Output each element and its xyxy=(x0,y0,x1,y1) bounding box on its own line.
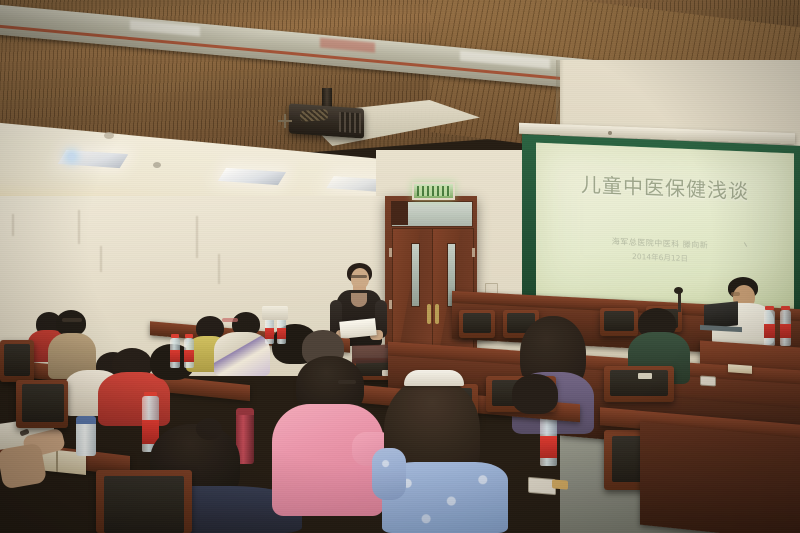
navy-front-bun xyxy=(196,418,222,440)
door-transom-dark-panel xyxy=(391,201,408,225)
door-handle-right[interactable] xyxy=(435,304,439,324)
phone-on-desk-right[interactable] xyxy=(700,375,716,386)
bottle-label-3 xyxy=(540,436,557,458)
red-mid-top xyxy=(98,372,170,426)
desk-front-right-panel xyxy=(640,422,800,533)
tumbler-lid xyxy=(76,416,96,424)
ceiling-fixture-small xyxy=(153,162,161,168)
screen-housing-bolt xyxy=(608,131,612,135)
wall-mark-4 xyxy=(218,254,220,284)
projector-cables xyxy=(300,109,329,122)
bottle-cap-4 xyxy=(171,334,179,338)
ceiling-sprinkler-icon xyxy=(278,114,292,128)
tissue-box xyxy=(262,306,288,320)
man-face-shadow xyxy=(731,292,740,296)
water-bottle-left-far-1[interactable] xyxy=(170,338,180,368)
khaki-woman-glasses-icon xyxy=(62,318,82,322)
lecture-hall-photo: 儿童中医保健浅谈 海军总医院中医科 滕向新 2014年6月12日 xyxy=(0,0,800,533)
strip-reflection-1 xyxy=(130,20,200,36)
tumbler-cup[interactable] xyxy=(76,420,96,456)
chair-pad-left-edge-3 xyxy=(104,476,184,533)
water-bottle-back-2[interactable] xyxy=(277,318,286,344)
ceiling-projector xyxy=(289,103,364,138)
thermos-cap xyxy=(236,408,254,415)
headband xyxy=(404,370,464,386)
door-vision-panel-left xyxy=(411,243,420,307)
water-bottle-right-1[interactable] xyxy=(764,310,775,346)
door-handle-left[interactable] xyxy=(427,304,431,324)
strip-reflection-2 xyxy=(320,38,375,53)
bottle-label-7 xyxy=(277,328,286,339)
keys-on-desk xyxy=(552,479,568,489)
water-bottle-back-1[interactable] xyxy=(265,318,274,344)
forearm-writing xyxy=(0,442,47,489)
presenter-neckline xyxy=(351,293,367,307)
chair-pad-left-edge-2 xyxy=(22,384,64,422)
blue-floral-sleeve xyxy=(372,448,406,500)
patterned-woman-glasses-icon xyxy=(222,318,238,322)
bottle-cap-1 xyxy=(765,306,773,310)
bottle-cap-2 xyxy=(781,306,789,310)
microphone-stalk xyxy=(678,292,681,312)
wall-mark-3 xyxy=(196,216,198,258)
exit-sign-glyph xyxy=(417,186,450,196)
chair-pad-far-1 xyxy=(463,313,491,333)
papers-on-desk-right xyxy=(728,364,752,374)
door-hinge-2 xyxy=(389,300,392,309)
bottle-label-1 xyxy=(764,324,775,338)
chair-number-tag-b xyxy=(638,373,652,379)
wall-mark-5 xyxy=(12,214,14,236)
smoke-detector-icon xyxy=(104,132,114,139)
door-hinge-1 xyxy=(389,248,392,257)
microphone-head-icon xyxy=(674,287,683,294)
chair-pad-left-edge-1 xyxy=(4,344,30,376)
bottle-label-2 xyxy=(780,324,791,338)
presenter-glasses-icon xyxy=(350,275,367,278)
light-hotspot xyxy=(68,153,75,160)
patterned-woman-top xyxy=(214,332,270,376)
notebook-spine xyxy=(56,450,58,472)
water-bottle-right-2[interactable] xyxy=(780,310,791,346)
chair-pad-far-3 xyxy=(604,311,634,331)
water-bottle-left-far-2[interactable] xyxy=(184,338,194,368)
door-hinge-3 xyxy=(472,248,475,257)
wall-mark-2 xyxy=(100,246,102,272)
pink-woman-glasses-icon xyxy=(338,380,356,384)
pink-right-hair xyxy=(512,374,558,414)
bottle-cap-8 xyxy=(144,392,157,396)
bottle-label-5 xyxy=(184,350,194,362)
wall-mark-1 xyxy=(78,210,80,244)
bottle-cap-5 xyxy=(185,334,193,338)
exit-sign xyxy=(412,182,455,200)
bottle-label-4 xyxy=(170,350,180,362)
bottle-label-6 xyxy=(265,328,274,339)
